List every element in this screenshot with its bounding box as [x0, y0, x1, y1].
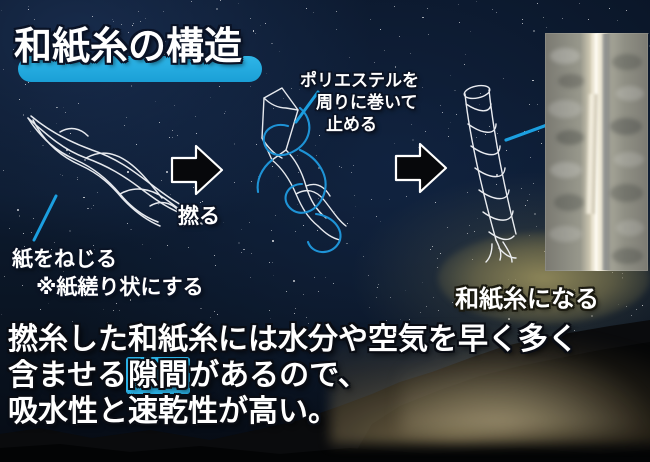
fiber-shadow: [603, 33, 610, 271]
caption-step2-line1: ポリエステルを: [300, 70, 419, 92]
arrow-1-label: 撚る: [178, 200, 220, 230]
caption-step1: 紙をねじる ※紙縒り状にする: [12, 245, 204, 301]
infographic-canvas: 和紙糸の構造: [0, 0, 650, 462]
summary-line-2-post: があるので、: [189, 358, 368, 393]
arrow-2-icon: [396, 144, 446, 192]
leader-line-step1: [34, 196, 56, 240]
page-title: 和紙糸の構造: [14, 24, 242, 68]
summary-text: 撚糸した和紙糸には水分や空気を早く多く 含ませる隙間があるので、 吸水性と速乾性…: [8, 322, 648, 430]
summary-line-2-pre: 含ませる: [8, 358, 127, 393]
twisted-paper-strand-icon: [28, 116, 202, 226]
caption-step1-line1: 紙をねじる: [12, 245, 204, 273]
caption-step2-line2: 周りに巻いて: [300, 92, 419, 114]
caption-step1-line2: ※紙縒り状にする: [12, 273, 204, 301]
summary-highlight: 隙間: [127, 358, 189, 393]
microscope-photo-inset: [545, 33, 648, 271]
title-text: 和紙糸の構造: [14, 24, 242, 68]
summary-line-3: 吸水性と速乾性が高い。: [8, 394, 648, 430]
arrow-1-icon: [172, 146, 222, 194]
caption-step2: ポリエステルを 周りに巻いて 止める: [300, 70, 419, 136]
caption-step3: 和紙糸になる: [455, 279, 599, 314]
summary-line-1: 撚糸した和紙糸には水分や空気を早く多く: [8, 322, 648, 358]
caption-step2-line3: 止める: [300, 114, 419, 136]
summary-line-2: 含ませる隙間があるので、: [8, 358, 648, 394]
